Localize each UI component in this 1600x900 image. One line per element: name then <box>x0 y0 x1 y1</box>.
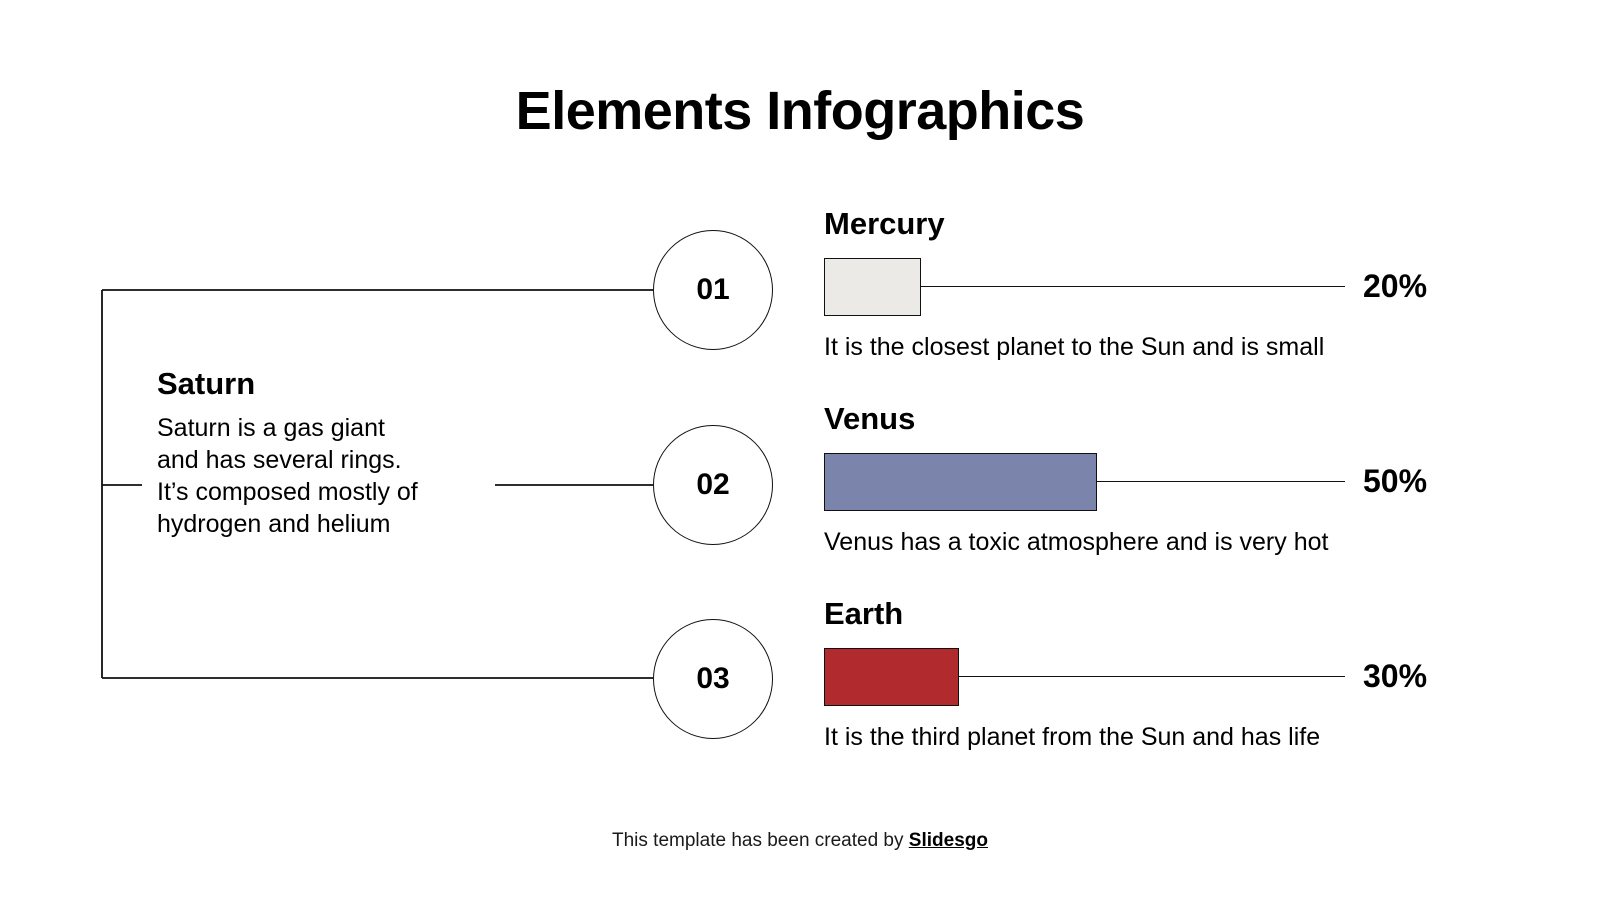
planet-description-venus: Venus has a toxic atmosphere and is very… <box>824 527 1444 558</box>
footer-credit: This template has been created by Slides… <box>0 830 1600 852</box>
bar-leader-line-earth <box>959 676 1345 677</box>
slide-canvas: Elements Infographics Saturn Saturn is a… <box>0 0 1600 900</box>
step-number-label: 02 <box>696 468 729 502</box>
saturn-heading: Saturn <box>157 365 487 402</box>
bar-leader-line-mercury <box>921 286 1345 287</box>
planet-description-earth: It is the third planet from the Sun and … <box>824 722 1444 753</box>
planet-row-mercury: Mercury 20% It is the closest planet to … <box>824 206 1444 363</box>
saturn-description: Saturn is a gas giant and has several ri… <box>157 412 487 540</box>
step-circle-03[interactable]: 03 <box>653 619 773 739</box>
step-number-label: 01 <box>696 273 729 307</box>
bar-percent-venus: 50% <box>1363 463 1427 500</box>
step-number-label: 03 <box>696 662 729 696</box>
footer-text: This template has been created by <box>612 830 909 851</box>
planet-description-mercury: It is the closest planet to the Sun and … <box>824 332 1444 363</box>
bar-venus <box>824 453 1097 511</box>
step-circle-02[interactable]: 02 <box>653 425 773 545</box>
bar-area-mercury: 20% <box>824 258 1444 318</box>
bar-earth <box>824 648 959 706</box>
planet-row-venus: Venus 50% Venus has a toxic atmosphere a… <box>824 401 1444 558</box>
planet-name-mercury: Mercury <box>824 206 1444 242</box>
bar-percent-earth: 30% <box>1363 658 1427 695</box>
bar-area-venus: 50% <box>824 453 1444 513</box>
page-title: Elements Infographics <box>0 82 1600 141</box>
step-circle-01[interactable]: 01 <box>653 230 773 350</box>
slidesgo-link[interactable]: Slidesgo <box>909 830 988 851</box>
planet-name-venus: Venus <box>824 401 1444 437</box>
bar-percent-mercury: 20% <box>1363 268 1427 305</box>
bar-leader-line-venus <box>1097 481 1345 482</box>
planet-row-earth: Earth 30% It is the third planet from th… <box>824 596 1444 753</box>
bar-mercury <box>824 258 921 316</box>
planet-name-earth: Earth <box>824 596 1444 632</box>
bar-area-earth: 30% <box>824 648 1444 708</box>
saturn-block: Saturn Saturn is a gas giant and has sev… <box>157 365 487 540</box>
